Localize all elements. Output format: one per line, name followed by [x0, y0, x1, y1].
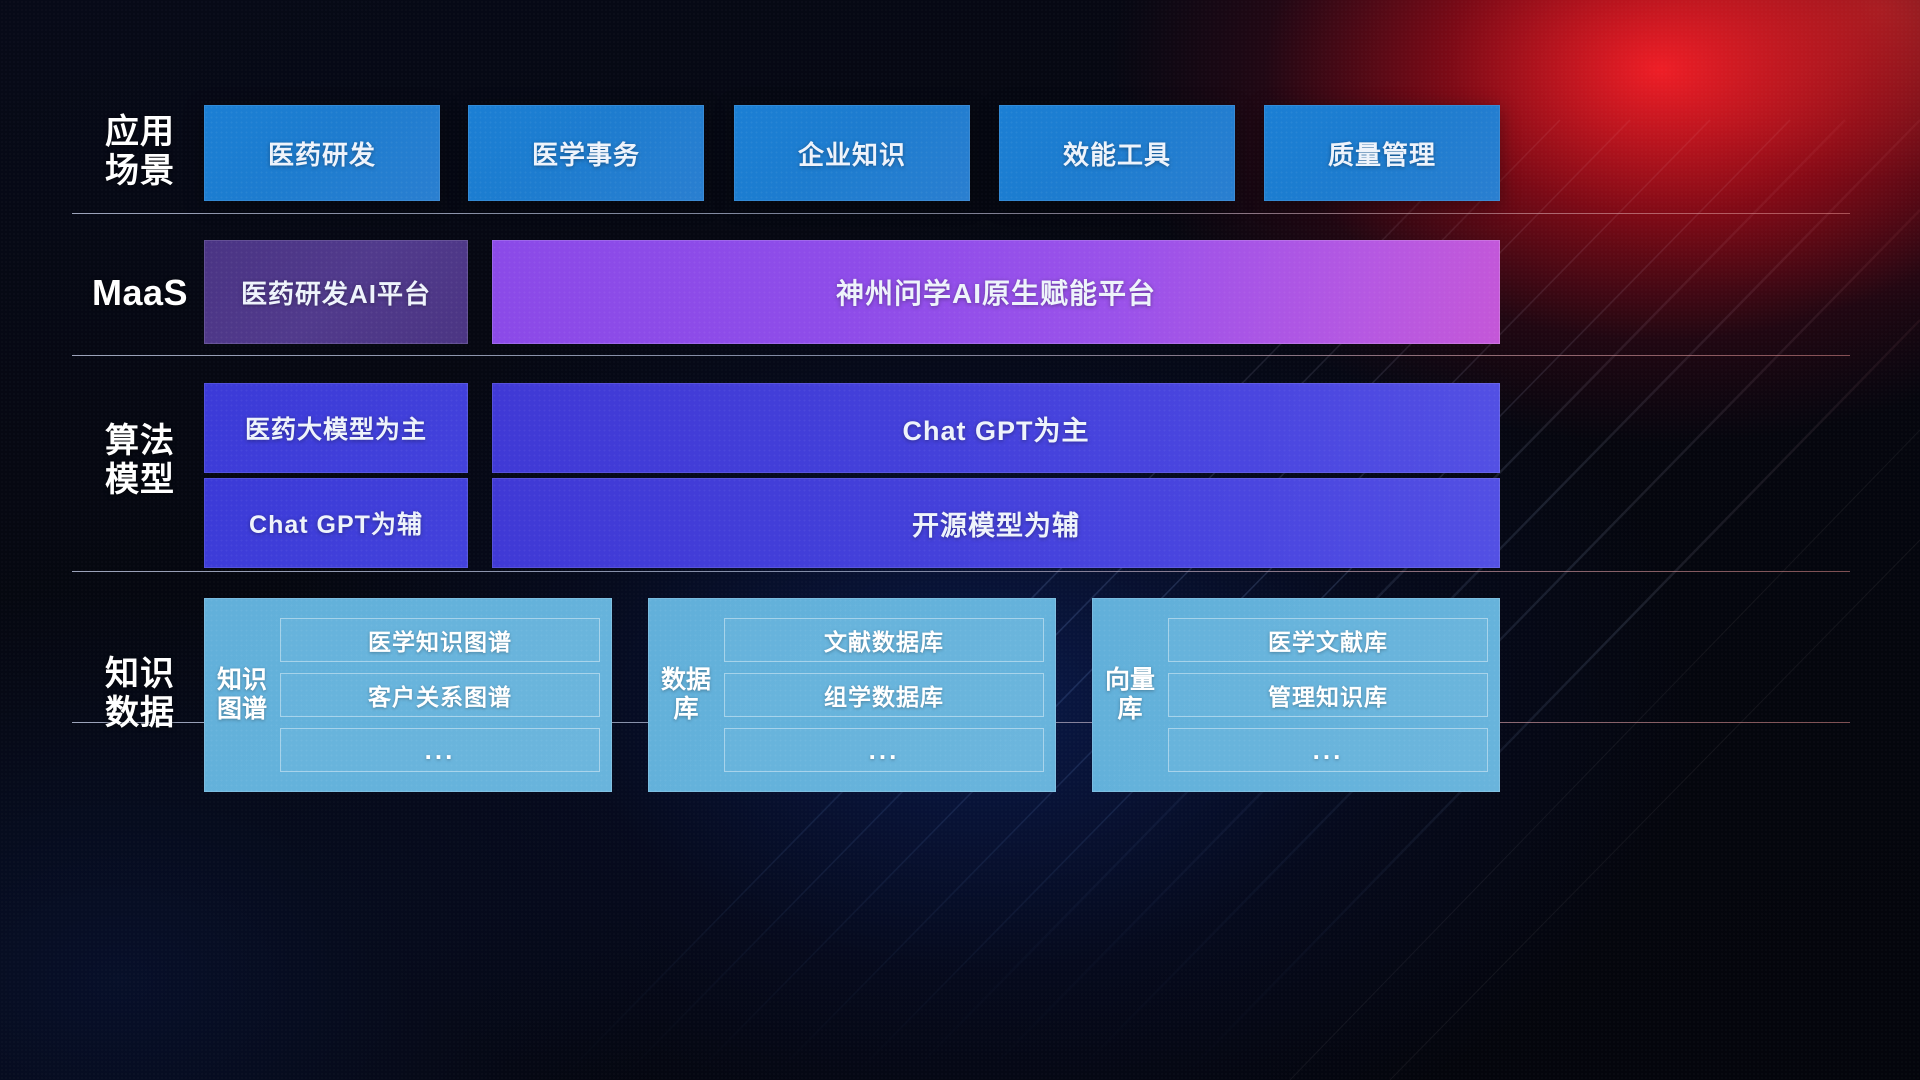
app-scenario-label: 医药研发 [268, 135, 376, 172]
knowledge-item-list: 医学知识图谱 客户关系图谱 ... [280, 618, 600, 772]
knowledge-item-list: 医学文献库 管理知识库 ... [1168, 618, 1488, 772]
row-label-algorithm-models: 算法 模型 [78, 422, 202, 501]
algo-model-label: 开源模型为辅 [912, 504, 1080, 543]
app-scenario-box[interactable]: 医药研发 [204, 105, 440, 201]
app-scenario-box[interactable]: 企业知识 [734, 105, 970, 201]
knowledge-item-list: 文献数据库 组学数据库 ... [724, 618, 1044, 772]
algo-model-label: Chat GPT为辅 [249, 505, 423, 541]
maas-platform-label: 神州问学AI原生赋能平台 [836, 272, 1156, 312]
app-scenario-label: 质量管理 [1328, 135, 1436, 172]
knowledge-item-more[interactable]: ... [1168, 728, 1488, 772]
app-scenario-label: 效能工具 [1063, 135, 1171, 172]
knowledge-item[interactable]: 医学文献库 [1168, 618, 1488, 662]
knowledge-item[interactable]: 管理知识库 [1168, 673, 1488, 717]
algo-model-label: 医药大模型为主 [245, 410, 427, 446]
divider-line-1 [72, 213, 1850, 214]
knowledge-item[interactable]: 文献数据库 [724, 618, 1044, 662]
algo-model-box-secondary-right[interactable]: 开源模型为辅 [492, 478, 1500, 568]
divider-line-2 [72, 355, 1850, 356]
app-scenario-label: 企业知识 [798, 135, 906, 172]
knowledge-panel-vector[interactable]: 向量库 医学文献库 管理知识库 ... [1092, 598, 1500, 792]
maas-platform-label: 医药研发AI平台 [241, 274, 431, 311]
app-scenario-label: 医学事务 [532, 135, 640, 172]
knowledge-panel-category-label: 数据库 [658, 666, 714, 725]
algo-model-box-primary-right[interactable]: Chat GPT为主 [492, 383, 1500, 473]
knowledge-item-more[interactable]: ... [280, 728, 600, 772]
knowledge-item[interactable]: 客户关系图谱 [280, 673, 600, 717]
knowledge-panel-database[interactable]: 数据库 文献数据库 组学数据库 ... [648, 598, 1056, 792]
app-scenario-box[interactable]: 质量管理 [1264, 105, 1500, 201]
app-scenario-box[interactable]: 医学事务 [468, 105, 704, 201]
maas-platform-box-pharma[interactable]: 医药研发AI平台 [204, 240, 468, 344]
maas-platform-box-shenzhou[interactable]: 神州问学AI原生赋能平台 [492, 240, 1500, 344]
row-label-application-scenarios: 应用 场景 [78, 113, 202, 192]
knowledge-item[interactable]: 医学知识图谱 [280, 618, 600, 662]
divider-line-3 [72, 571, 1850, 572]
algo-model-box-primary-left[interactable]: 医药大模型为主 [204, 383, 468, 473]
knowledge-item[interactable]: 组学数据库 [724, 673, 1044, 717]
row-label-maas: MaaS [78, 272, 202, 314]
knowledge-panel-category-label: 向量库 [1102, 666, 1158, 725]
knowledge-panel-category-label: 知识图谱 [214, 666, 270, 725]
algo-model-label: Chat GPT为主 [902, 409, 1089, 448]
app-scenario-box[interactable]: 效能工具 [999, 105, 1235, 201]
row-label-knowledge-data: 知识 数据 [78, 655, 202, 734]
slide-canvas: 应用 场景 医药研发 医学事务 企业知识 效能工具 质量管理 MaaS 医药研发… [0, 0, 1920, 1080]
knowledge-item-more[interactable]: ... [724, 728, 1044, 772]
knowledge-panel-graph[interactable]: 知识图谱 医学知识图谱 客户关系图谱 ... [204, 598, 612, 792]
algo-model-box-secondary-left[interactable]: Chat GPT为辅 [204, 478, 468, 568]
